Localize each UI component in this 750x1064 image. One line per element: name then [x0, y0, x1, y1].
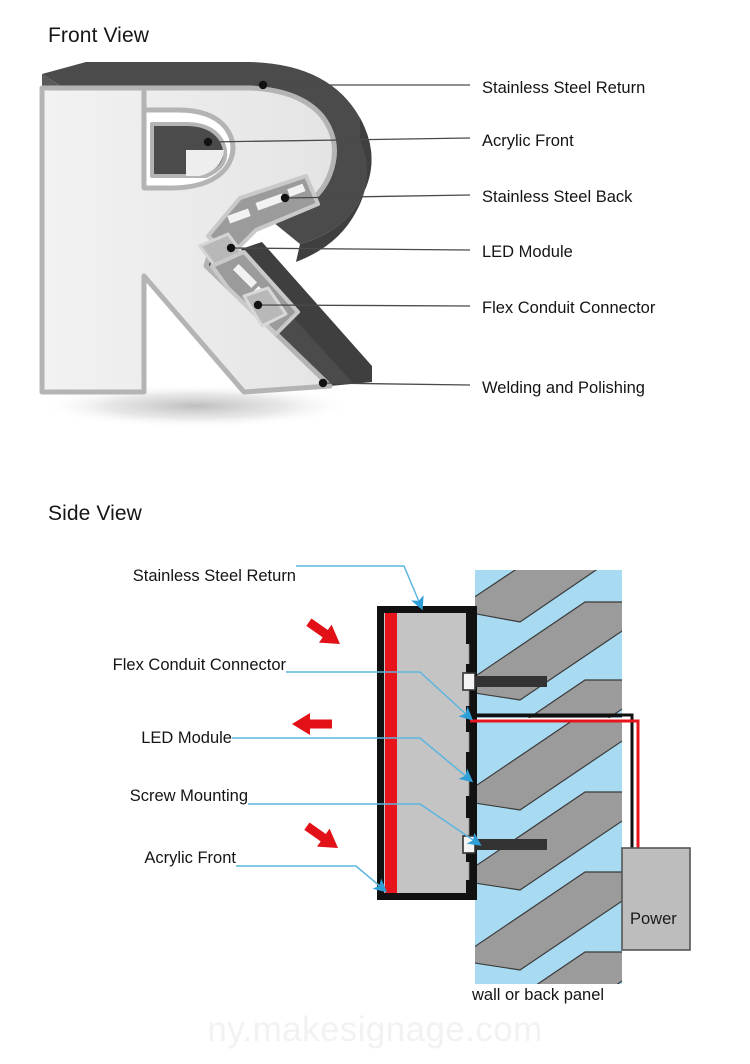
screw-head-lower: [463, 836, 475, 853]
power-supply-label: Power: [630, 910, 677, 929]
leader-stainless-steel-return: [296, 566, 420, 604]
diagram-canvas: Front View: [0, 0, 750, 1064]
screw-shaft-lower: [475, 839, 547, 850]
red-arrow-lower: [301, 817, 345, 857]
site-watermark: ny.makesignage.com: [0, 1010, 750, 1050]
power-supply-box: [622, 848, 690, 950]
letter-cross-section: [377, 606, 477, 900]
side-label-acrylic-front: Acrylic Front: [36, 850, 236, 867]
side-label-led-module: LED Module: [32, 730, 232, 747]
cross-section-bottom-cap: [377, 893, 477, 900]
wall-caption: wall or back panel: [472, 986, 604, 1005]
cross-section-left-edge: [377, 606, 384, 900]
red-arrow-middle: [292, 713, 332, 735]
side-label-flex-conduit-connector: Flex Conduit Connector: [60, 657, 286, 674]
cross-section-top-cap: [377, 606, 477, 613]
red-direction-arrows: [292, 613, 346, 857]
side-view-graphic: [0, 0, 750, 1064]
side-label-stainless-steel-return: Stainless Steel Return: [80, 568, 296, 585]
acrylic-front-strip: [385, 612, 397, 894]
red-arrow-upper: [303, 613, 347, 653]
leader-acrylic-front: [236, 866, 382, 888]
screw-shaft-upper: [475, 676, 547, 687]
screw-head-upper: [463, 673, 475, 690]
side-label-screw-mounting: Screw Mounting: [48, 788, 248, 805]
